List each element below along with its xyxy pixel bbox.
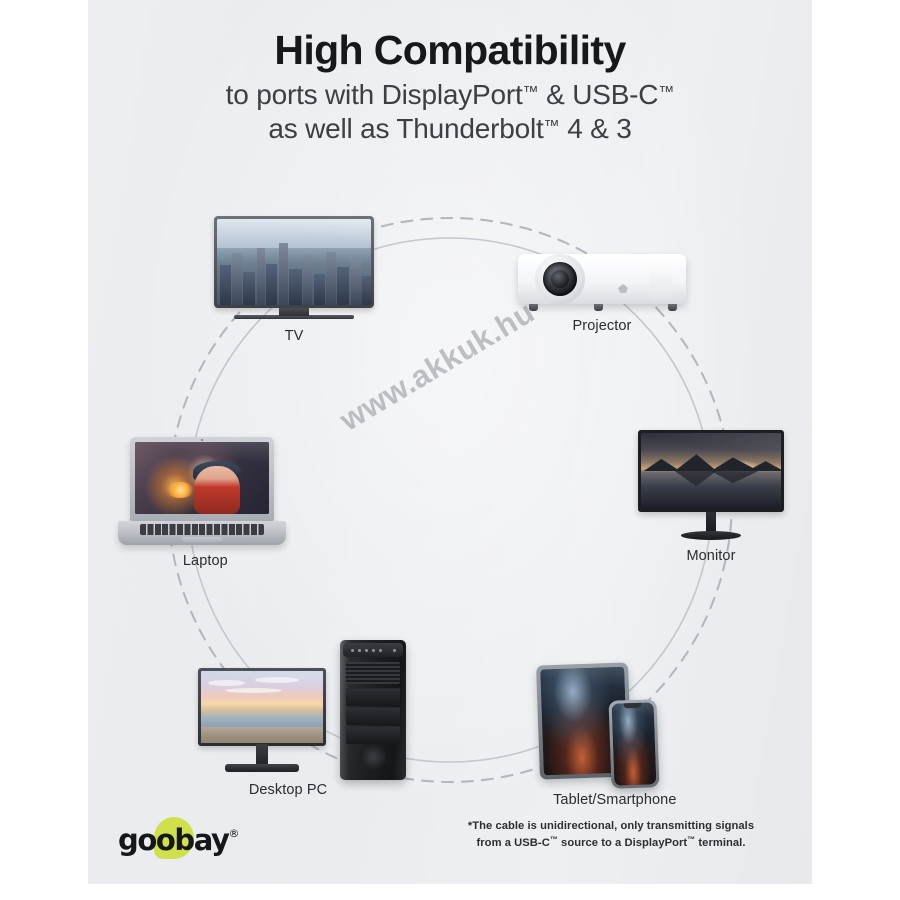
tm-icon: ™ xyxy=(523,84,539,101)
registered-icon: ® xyxy=(229,827,240,840)
tower-drive-bay xyxy=(346,707,400,725)
node-tv[interactable]: TV xyxy=(214,216,374,324)
heading-block: High Compatibility to ports with Display… xyxy=(88,28,812,146)
node-label-projector: Projector xyxy=(573,318,632,334)
city-skyline-artwork xyxy=(217,219,371,305)
monitor-screen xyxy=(641,433,781,509)
node-label-tv: TV xyxy=(285,328,304,344)
subtitle-2-text: as well as Thunderbolt xyxy=(268,113,543,144)
node-tablet-smartphone[interactable]: Tablet/Smartphone xyxy=(538,660,698,788)
node-desktop-pc[interactable]: Desktop PC xyxy=(198,640,423,790)
logo-wordmark: goobay® xyxy=(118,823,268,857)
monitor-bezel xyxy=(638,430,784,512)
phone-notch xyxy=(624,703,642,709)
pc-tower-case xyxy=(340,640,406,780)
laptop-wallpaper-artwork xyxy=(135,442,269,514)
projector-lens xyxy=(543,262,577,296)
subtitle-line-1: to ports with DisplayPort™ & USB-C™ xyxy=(88,78,812,112)
tv-screen xyxy=(217,219,371,305)
node-label-desktop-pc: Desktop PC xyxy=(249,782,327,798)
goobay-logo: goobay® xyxy=(118,818,268,862)
node-label-monitor: Monitor xyxy=(686,548,735,564)
beach-sunset-artwork xyxy=(201,671,323,743)
poster-canvas: High Compatibility to ports with Display… xyxy=(0,0,900,900)
tower-top-panel xyxy=(343,643,403,657)
pc-monitor-screen xyxy=(201,671,323,743)
laptop-screen xyxy=(135,442,269,514)
laptop-deck xyxy=(118,521,286,545)
tm-icon: ™ xyxy=(544,118,560,135)
footnote-2b: source to a DisplayPort xyxy=(558,837,687,849)
subtitle-1-mid: & USB-C xyxy=(539,79,659,110)
footer: goobay® *The cable is unidirectional, on… xyxy=(88,802,812,884)
pc-monitor-stand-base xyxy=(225,764,299,772)
projector-vent xyxy=(650,270,672,300)
phone-screen xyxy=(612,702,657,785)
smartphone-device xyxy=(608,699,659,789)
node-laptop[interactable]: Laptop xyxy=(118,437,286,553)
footnote-line-1: *The cable is unidirectional, only trans… xyxy=(446,818,776,834)
projector-foot xyxy=(668,304,677,311)
node-projector[interactable]: Projector xyxy=(518,248,686,328)
pc-monitor-bezel xyxy=(198,668,326,746)
logo-text-b: oo xyxy=(137,823,174,857)
projector-foot xyxy=(529,304,538,311)
tower-mesh-vent xyxy=(346,662,400,684)
monitor-stand-base xyxy=(681,531,741,540)
webcam-icon xyxy=(201,439,203,441)
node-monitor[interactable]: Monitor xyxy=(638,430,784,545)
subtitle-line-2: as well as Thunderbolt™ 4 & 3 xyxy=(88,112,812,146)
logo-text-a: g xyxy=(118,823,137,857)
footnote-2a: from a USB-C xyxy=(477,837,550,849)
tower-fan-icon xyxy=(360,744,386,770)
tower-drive-bay xyxy=(346,726,400,744)
projector-foot xyxy=(594,304,603,311)
tv-bezel xyxy=(214,216,374,308)
tm-icon: ™ xyxy=(658,84,674,101)
tm-icon: ™ xyxy=(550,835,558,844)
logo-text-c: bay xyxy=(174,823,228,857)
footnote: *The cable is unidirectional, only trans… xyxy=(446,818,776,851)
product-panel: High Compatibility to ports with Display… xyxy=(88,0,812,884)
footnote-2c: terminal. xyxy=(695,837,745,849)
node-label-laptop: Laptop xyxy=(183,553,228,569)
pc-monitor-stand-neck xyxy=(256,744,268,766)
page-title: High Compatibility xyxy=(88,28,812,74)
subtitle-1-text: to ports with DisplayPort xyxy=(226,79,523,110)
laptop-lid xyxy=(130,437,274,521)
trackpad xyxy=(182,537,222,542)
subtitle-2-suffix: 4 & 3 xyxy=(560,113,632,144)
keyboard xyxy=(140,524,264,535)
tv-stand-neck xyxy=(279,308,309,316)
tower-drive-bay xyxy=(346,688,400,706)
smoke-wallpaper-artwork xyxy=(612,702,657,785)
mountain-lake-artwork xyxy=(641,433,781,509)
footnote-line-2: from a USB-C™ source to a DisplayPort™ t… xyxy=(446,834,776,851)
